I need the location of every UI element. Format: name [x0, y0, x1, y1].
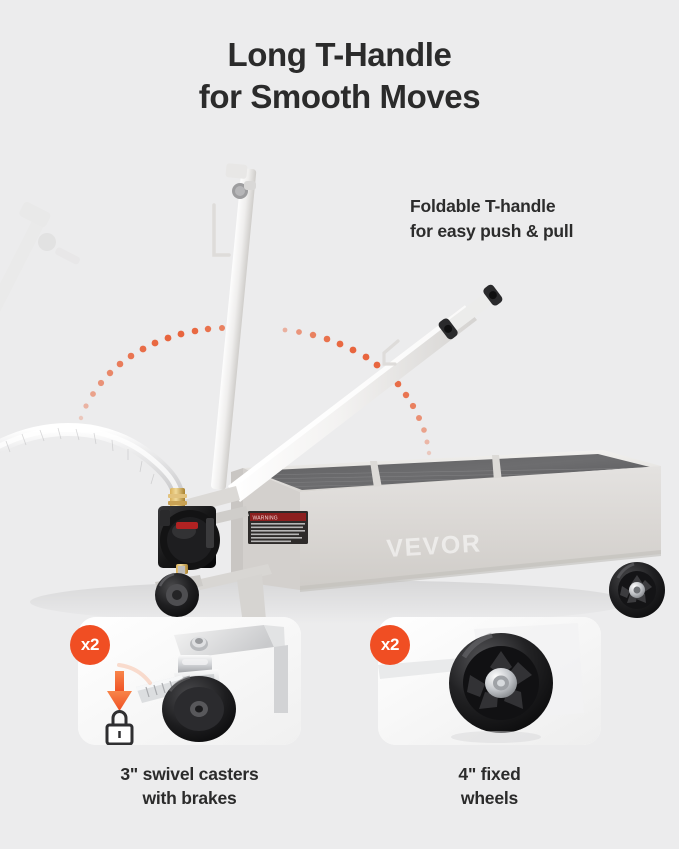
caption-fixed-wheels: 4" fixed wheels: [348, 763, 631, 810]
pump-unit: [158, 506, 220, 574]
caption-wheels-line-1: 4" fixed: [348, 763, 631, 787]
handle-ghost-folded: [0, 201, 81, 394]
tank-body: WARNING VEVOR: [231, 450, 661, 592]
t-grip: [437, 283, 504, 341]
marketing-image: Long T-Handle for Smooth Moves Foldable …: [0, 0, 679, 849]
card-fixed-wheels: [378, 617, 601, 745]
rear-fixed-wheel: [609, 562, 665, 618]
feature-cards: x2: [0, 617, 679, 849]
card-swivel-casters: [78, 617, 301, 745]
product-illustration: WARNING VEVOR: [0, 150, 679, 650]
caption-casters-line-2: with brakes: [48, 787, 331, 811]
braided-hose: [0, 428, 187, 508]
swivel-caster-photo: [78, 617, 301, 745]
caption-wheels-line-2: wheels: [348, 787, 631, 811]
headline-line-1: Long T-Handle: [228, 36, 452, 73]
svg-text:WARNING: WARNING: [253, 516, 278, 522]
handle-upright: [211, 163, 257, 490]
caption-swivel-casters: 3" swivel casters with brakes: [48, 763, 331, 810]
caption-casters-line-1: 3" swivel casters: [48, 763, 331, 787]
headline-line-2: for Smooth Moves: [0, 76, 679, 118]
quantity-badge-casters: x2: [70, 625, 110, 665]
quantity-badge-wheels: x2: [370, 625, 410, 665]
warning-label: WARNING: [248, 511, 308, 544]
fixed-wheel-photo: [378, 617, 601, 745]
page-title: Long T-Handle for Smooth Moves: [0, 34, 679, 118]
brand-emboss: VEVOR: [386, 529, 483, 563]
